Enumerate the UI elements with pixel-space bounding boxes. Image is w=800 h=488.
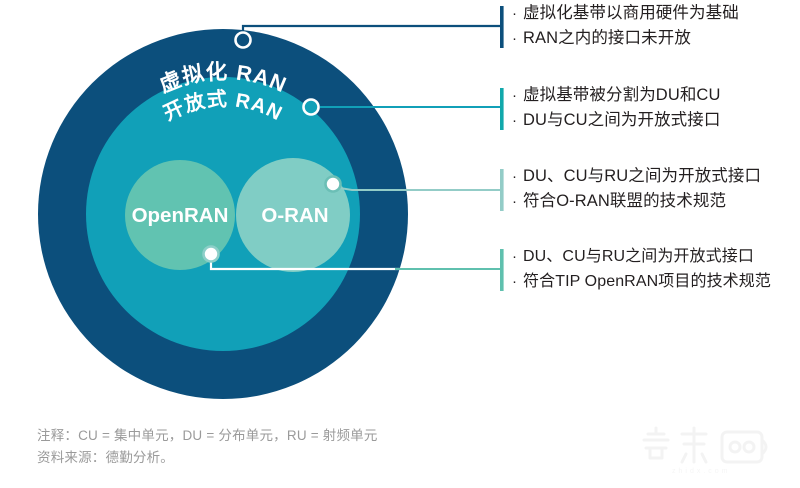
callout-text: DU与CU之间为开放式接口 (523, 111, 720, 129)
bracket-open-ran (500, 88, 504, 130)
bullet-glyph: · (512, 164, 523, 189)
callout-text: 符合O-RAN联盟的技术规范 (523, 192, 726, 210)
callout-line: ·虚拟基带被分割为DU和CU (512, 83, 720, 108)
bracket-o-ran (500, 169, 504, 211)
callout-text: 虚拟基带被分割为DU和CU (523, 86, 720, 104)
diagram-canvas: 虚拟化 RAN 开放式 RAN OpenRAN O-RAN (0, 0, 800, 488)
callout-line: ·RAN之内的接口未开放 (512, 26, 739, 51)
callout-virtualized-ran: ·虚拟化基带以商用硬件为基础 ·RAN之内的接口未开放 (512, 1, 739, 51)
callout-line: ·符合O-RAN联盟的技术规范 (512, 189, 761, 214)
callout-line: ·虚拟化基带以商用硬件为基础 (512, 1, 739, 26)
label-openran: OpenRAN (132, 204, 229, 227)
footnote-definitions: 注释：CU = 集中单元，DU = 分布单元，RU = 射频单元 (37, 425, 378, 447)
callout-text: RAN之内的接口未开放 (523, 29, 691, 47)
callout-o-ran: ·DU、CU与RU之间为开放式接口 ·符合O-RAN联盟的技术规范 (512, 164, 761, 214)
bracket-openran (500, 249, 504, 291)
callout-line: ·DU、CU与RU之间为开放式接口 (512, 164, 761, 189)
bracket-virtualized-ran (500, 6, 504, 48)
callout-text: DU、CU与RU之间为开放式接口 (523, 167, 761, 185)
footnote-source: 资料来源：德勤分析。 (37, 447, 174, 469)
callout-text: DU、CU与RU之间为开放式接口 (523, 248, 754, 265)
callout-line: ·符合TIP OpenRAN项目的技术规范 (512, 269, 771, 294)
label-o-ran: O-RAN (261, 204, 328, 227)
callout-line: ·DU与CU之间为开放式接口 (512, 108, 720, 133)
callout-text: 符合TIP OpenRAN项目的技术规范 (523, 273, 771, 290)
bullet-glyph: · (512, 269, 523, 294)
callout-text: 虚拟化基带以商用硬件为基础 (523, 4, 739, 22)
bullet-glyph: · (512, 83, 523, 108)
bullet-glyph: · (512, 108, 523, 133)
callout-openran: ·DU、CU与RU之间为开放式接口 ·符合TIP OpenRAN项目的技术规范 (512, 244, 771, 294)
callout-line: ·DU、CU与RU之间为开放式接口 (512, 244, 771, 269)
bullet-glyph: · (512, 244, 523, 269)
bullet-glyph: · (512, 1, 523, 26)
bullet-glyph: · (512, 189, 523, 214)
callout-open-ran: ·虚拟基带被分割为DU和CU ·DU与CU之间为开放式接口 (512, 83, 720, 133)
bullet-glyph: · (512, 26, 523, 51)
